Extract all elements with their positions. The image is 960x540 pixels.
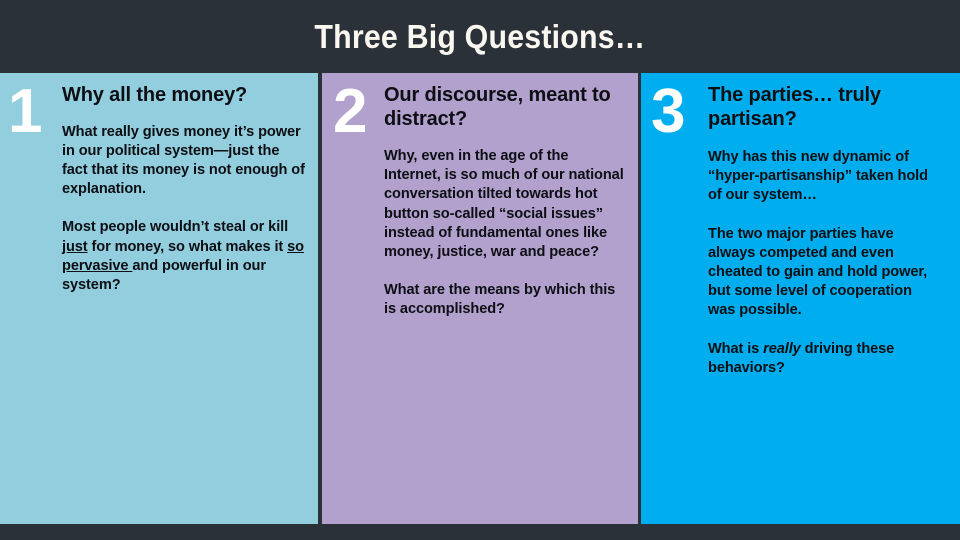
column-3-p3-emphasis-really: really — [763, 341, 801, 357]
column-3-p1-text: Why has this new dynamic of “hyper-parti… — [708, 149, 928, 203]
column-3-paragraph-3: What is really driving these behaviors? — [708, 340, 943, 378]
column-1-number: 1 — [8, 81, 41, 143]
column-2-heading: Our discourse, meant to distract? — [384, 84, 619, 131]
column-3-body: Why has this new dynamic of “hyper-parti… — [708, 148, 943, 378]
column-1-body: What really gives money it’s power in ou… — [62, 123, 305, 296]
question-columns: 1 Why all the money? What really gives m… — [0, 73, 960, 524]
column-2-paragraph-2: What are the means by which this is acco… — [384, 281, 624, 319]
column-3-number: 3 — [651, 81, 684, 143]
column-1-p1-text: What really gives money it’s power in ou… — [62, 124, 305, 198]
column-2-body: Why, even in the age of the Internet, is… — [384, 147, 624, 320]
column-1-p2-mid: for money, so what makes it — [88, 239, 288, 255]
question-column-2[interactable]: 2 Our discourse, meant to distract? Why,… — [322, 73, 638, 524]
column-2-head: 2 Our discourse, meant to distract? — [322, 73, 638, 131]
slide-root: Three Big Questions… 1 Why all the money… — [0, 0, 960, 540]
column-3-heading: The parties… truly partisan? — [708, 84, 938, 131]
column-1-p2-pre: Most people wouldn’t steal or kill — [62, 219, 288, 235]
column-1-heading: Why all the money? — [62, 84, 302, 108]
column-1-head: 1 Why all the money? — [0, 73, 318, 108]
column-3-head: 3 The parties… truly partisan? — [641, 73, 960, 131]
column-1-paragraph-1: What really gives money it’s power in ou… — [62, 123, 305, 200]
column-3-paragraph-2: The two major parties have always compet… — [708, 225, 943, 321]
question-column-1[interactable]: 1 Why all the money? What really gives m… — [0, 73, 318, 524]
column-2-paragraph-1: Why, even in the age of the Internet, is… — [384, 147, 624, 262]
column-1-paragraph-2: Most people wouldn’t steal or kill just … — [62, 218, 305, 295]
column-2-number: 2 — [333, 81, 366, 143]
footer-bar — [0, 524, 960, 540]
column-3-p3-pre: What is — [708, 341, 763, 357]
column-2-p1-text: Why, even in the age of the Internet, is… — [384, 148, 624, 260]
column-3-paragraph-1: Why has this new dynamic of “hyper-parti… — [708, 148, 943, 206]
column-1-p2-underline-just: just — [62, 239, 88, 255]
column-2-p2-text: What are the means by which this is acco… — [384, 282, 615, 317]
question-column-3[interactable]: 3 The parties… truly partisan? Why has t… — [641, 73, 960, 524]
page-title: Three Big Questions… — [315, 18, 646, 56]
column-3-p2-text: The two major parties have always compet… — [708, 226, 927, 319]
title-bar: Three Big Questions… — [0, 0, 960, 73]
